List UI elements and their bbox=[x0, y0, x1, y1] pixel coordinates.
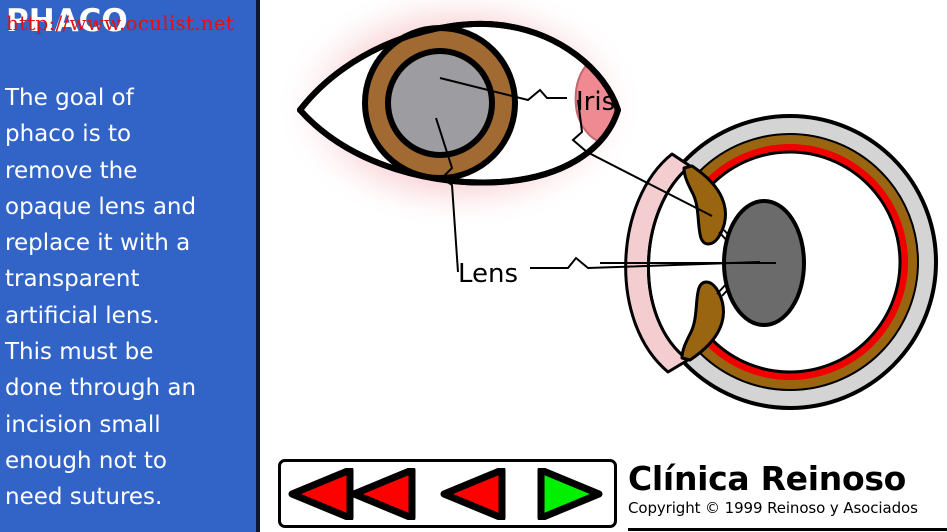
navigation-bar bbox=[278, 459, 617, 528]
pupil-lens bbox=[388, 51, 492, 155]
copyright-notice: Copyright © 1999 Reinoso y Asociados bbox=[628, 499, 947, 517]
slide-root: PHACO The goal of phaco is to remove the… bbox=[0, 0, 947, 532]
first-slide-button[interactable] bbox=[281, 462, 428, 525]
previous-slide-button[interactable] bbox=[428, 462, 522, 525]
footer-divider bbox=[628, 528, 947, 531]
label-iris: Iris bbox=[576, 87, 615, 117]
label-lens: Lens bbox=[458, 259, 518, 289]
clinic-branding: Clínica Reinoso Copyright © 1999 Reinoso… bbox=[628, 462, 947, 517]
double-left-arrow-icon-second bbox=[354, 470, 412, 518]
right-arrow-icon bbox=[541, 470, 599, 518]
watermark-url: http://www.oculist.net bbox=[6, 11, 234, 35]
next-slide-button[interactable] bbox=[522, 462, 614, 525]
clinic-name: Clínica Reinoso bbox=[628, 462, 947, 497]
lesson-body-text: The goal of phaco is to remove the opaqu… bbox=[5, 80, 253, 516]
left-arrow-icon bbox=[444, 470, 502, 518]
eye-diagram: Iris Lens bbox=[260, 0, 947, 532]
double-left-arrow-icon bbox=[292, 470, 350, 518]
cross-section-eye bbox=[600, 116, 936, 408]
